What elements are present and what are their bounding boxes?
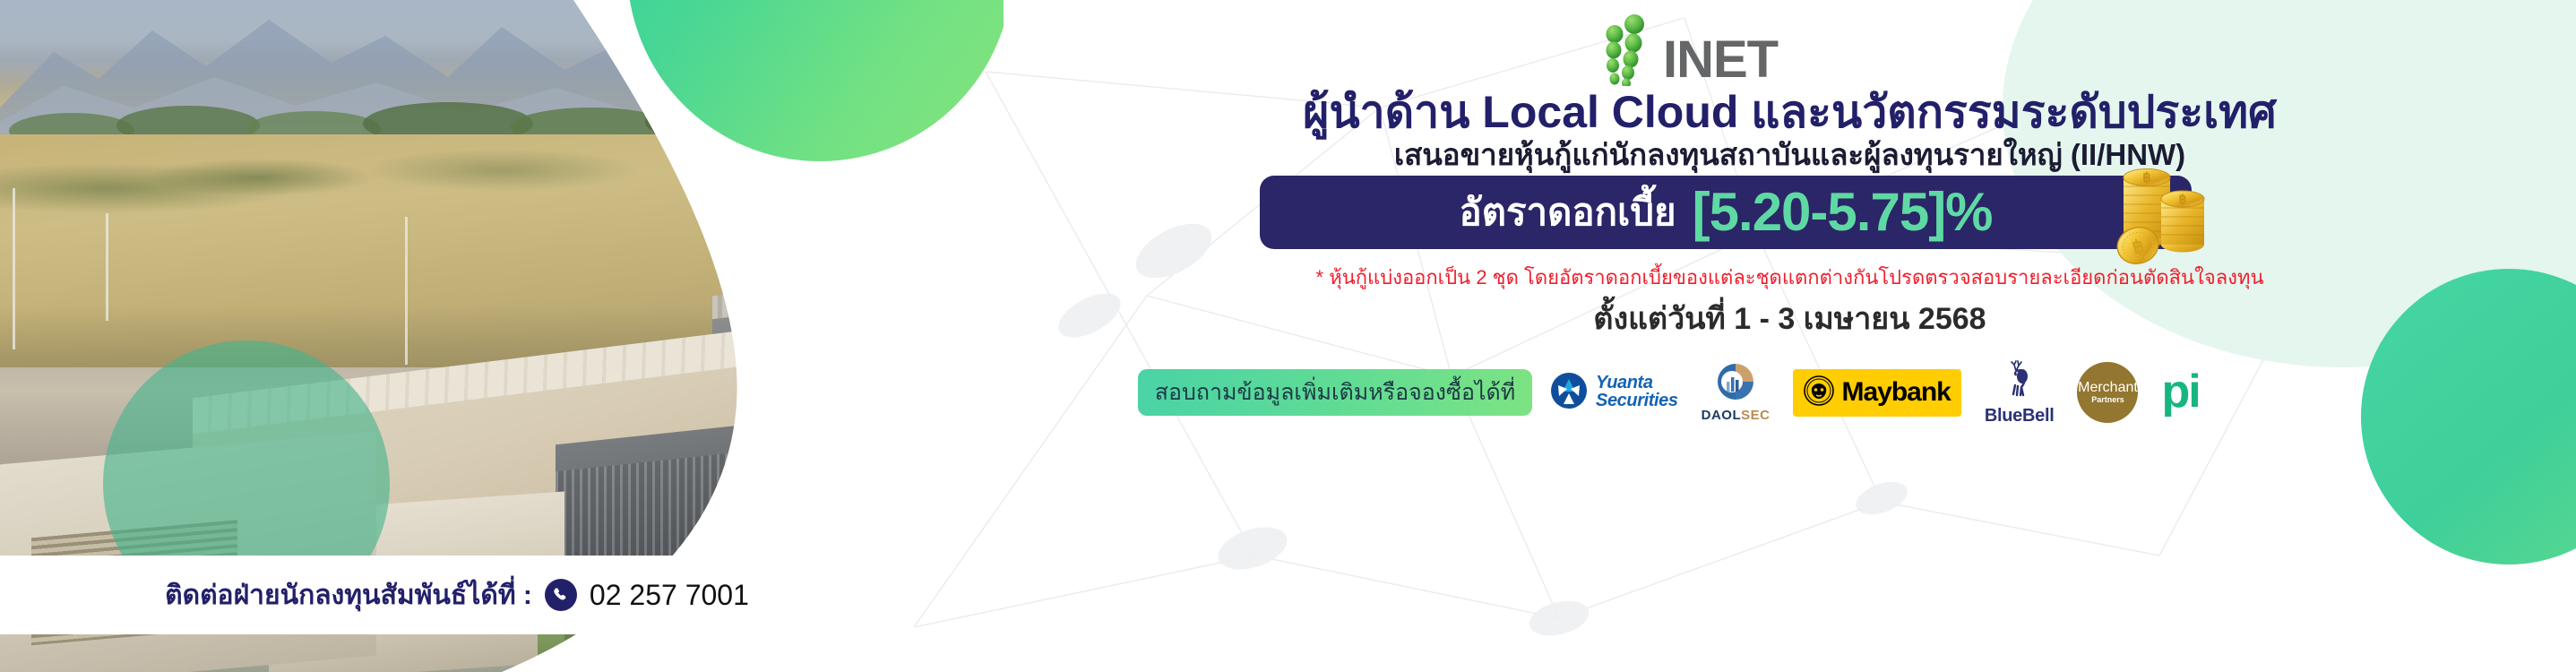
contact-card: ติดต่อฝ่ายนักลงทุนสัมพันธ์ได้ที่ : 02 25… [0,556,914,634]
svg-text:฿: ฿ [2142,170,2151,185]
daol-wordmark: DAOLSEC [1702,408,1770,423]
partner-logo-daolsec[interactable]: DAOLSEC [1702,362,1770,423]
daol-pie-chart-icon [1715,362,1756,406]
phone-icon [545,579,577,611]
contact-phone-number: 02 257 7001 [590,579,749,612]
yuanta-star-icon [1550,372,1588,414]
svg-text:฿: ฿ [2179,192,2187,206]
yuanta-wordmark: Yuanta Securities [1596,375,1678,409]
interest-rate-label: อัตราดอกเบี้ย [1459,194,1676,231]
contact-label: ติดต่อฝ่ายนักลงทุนสัมพันธ์ได้ที่ : [165,574,532,616]
cta-button[interactable]: สอบถามข้อมูลเพิ่มเติมหรือจองซื้อได้ที่ [1138,369,1532,416]
offering-period: ตั้งแต่วันที่ 1 - 3 เมษายน 2568 [1004,294,2576,342]
maybank-wordmark: Maybank [1841,379,1950,406]
interest-rate-value: [5.20-5.75]% [1693,185,1993,239]
merchant-wordmark-1: Merchant [2078,381,2138,396]
gold-coin-stack-icon: ฿ ฿ [2106,152,2213,264]
bluebell-wordmark: BlueBell [1985,406,2055,426]
merchant-wordmark-2: Partners [2091,396,2124,404]
partner-logo-merchant-partners[interactable]: Merchant Partners [2077,362,2138,423]
partner-logo-pi[interactable]: pi [2161,374,2199,411]
interest-rate-box: อัตราดอกเบี้ย [5.20-5.75]% [1260,176,2192,249]
promotional-banner: INET ผู้นำด้าน Local Cloud และนวัตกรรมระ… [0,0,2576,672]
subheadline: เสนอขายหุ้นกู้แก่นักลงทุนสถาบันและผู้ลงท… [1004,131,2576,178]
partner-logo-bluebell[interactable]: BlueBell [1985,359,2055,426]
maybank-tiger-icon [1804,375,1834,410]
pi-wordmark: pi [2161,374,2199,411]
inet-logo: INET [1597,14,1778,86]
content-panel: INET ผู้นำด้าน Local Cloud และนวัตกรรมระ… [1004,0,2576,672]
partner-logos: Yuanta Securities [1550,355,2563,430]
partner-logo-maybank[interactable]: Maybank [1793,369,1960,417]
partner-logo-yuanta[interactable]: Yuanta Securities [1550,372,1678,414]
bluebell-deer-icon [1999,359,2040,405]
inet-green-dots-logo-icon [1597,14,1659,86]
disclaimer-text: * หุ้นกู้แบ่งออกเป็น 2 ชุด โดยอัตราดอกเบ… [1004,262,2576,293]
